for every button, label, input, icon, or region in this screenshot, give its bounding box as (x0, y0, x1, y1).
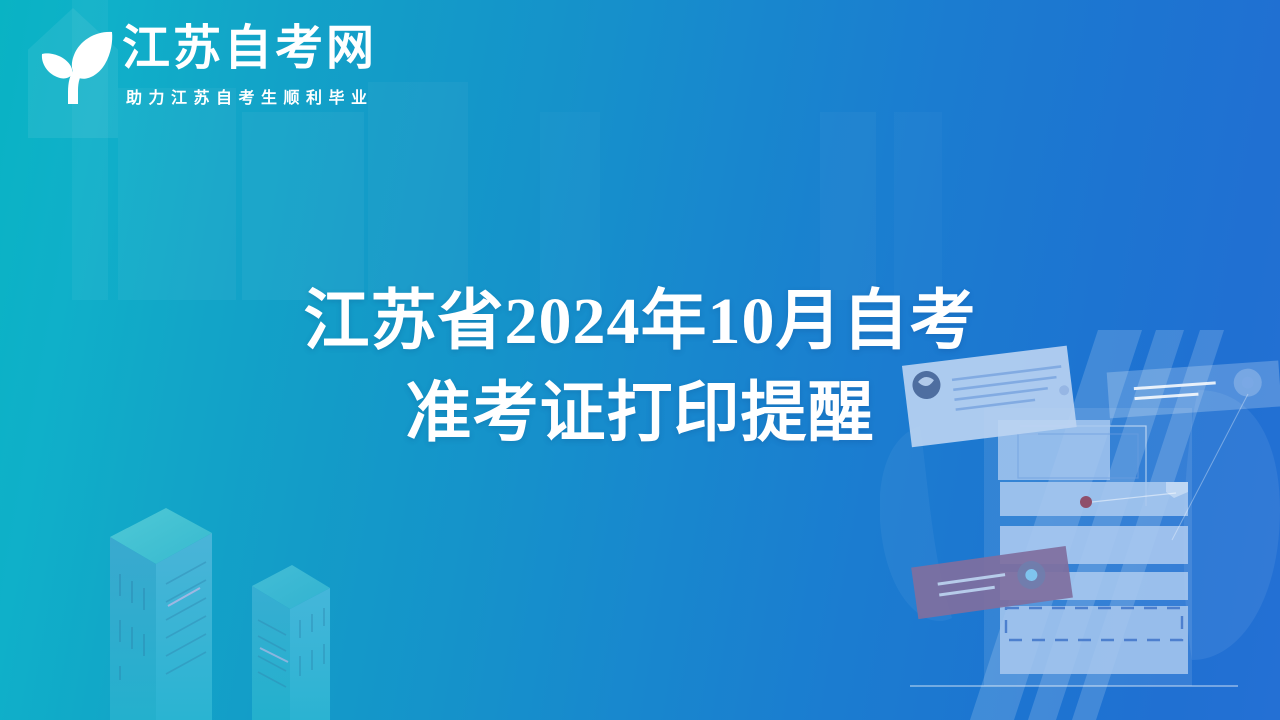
rounded-blob (1184, 390, 1280, 660)
promo-banner: 江苏自考网 助力江苏自考生顺利毕业 (0, 0, 1280, 720)
logo-tagline: 助力江苏自考生顺利毕业 (126, 84, 374, 108)
sprout-icon (36, 22, 122, 108)
tower-tall (110, 508, 212, 720)
bg-band (820, 112, 876, 300)
bg-band (540, 112, 600, 300)
bg-band (368, 82, 468, 300)
pill-bar (1107, 360, 1280, 418)
bg-band (894, 112, 942, 300)
bg-band (118, 88, 236, 300)
tower-short (252, 565, 330, 720)
bg-band (242, 112, 364, 300)
site-logo[interactable]: 江苏自考网 助力江苏自考生顺利毕业 (24, 14, 384, 114)
logo-brand-text: 江苏自考网 (122, 20, 377, 78)
isometric-towers (100, 480, 400, 720)
accent-dot (1080, 496, 1092, 508)
document-illustration (880, 330, 1280, 720)
